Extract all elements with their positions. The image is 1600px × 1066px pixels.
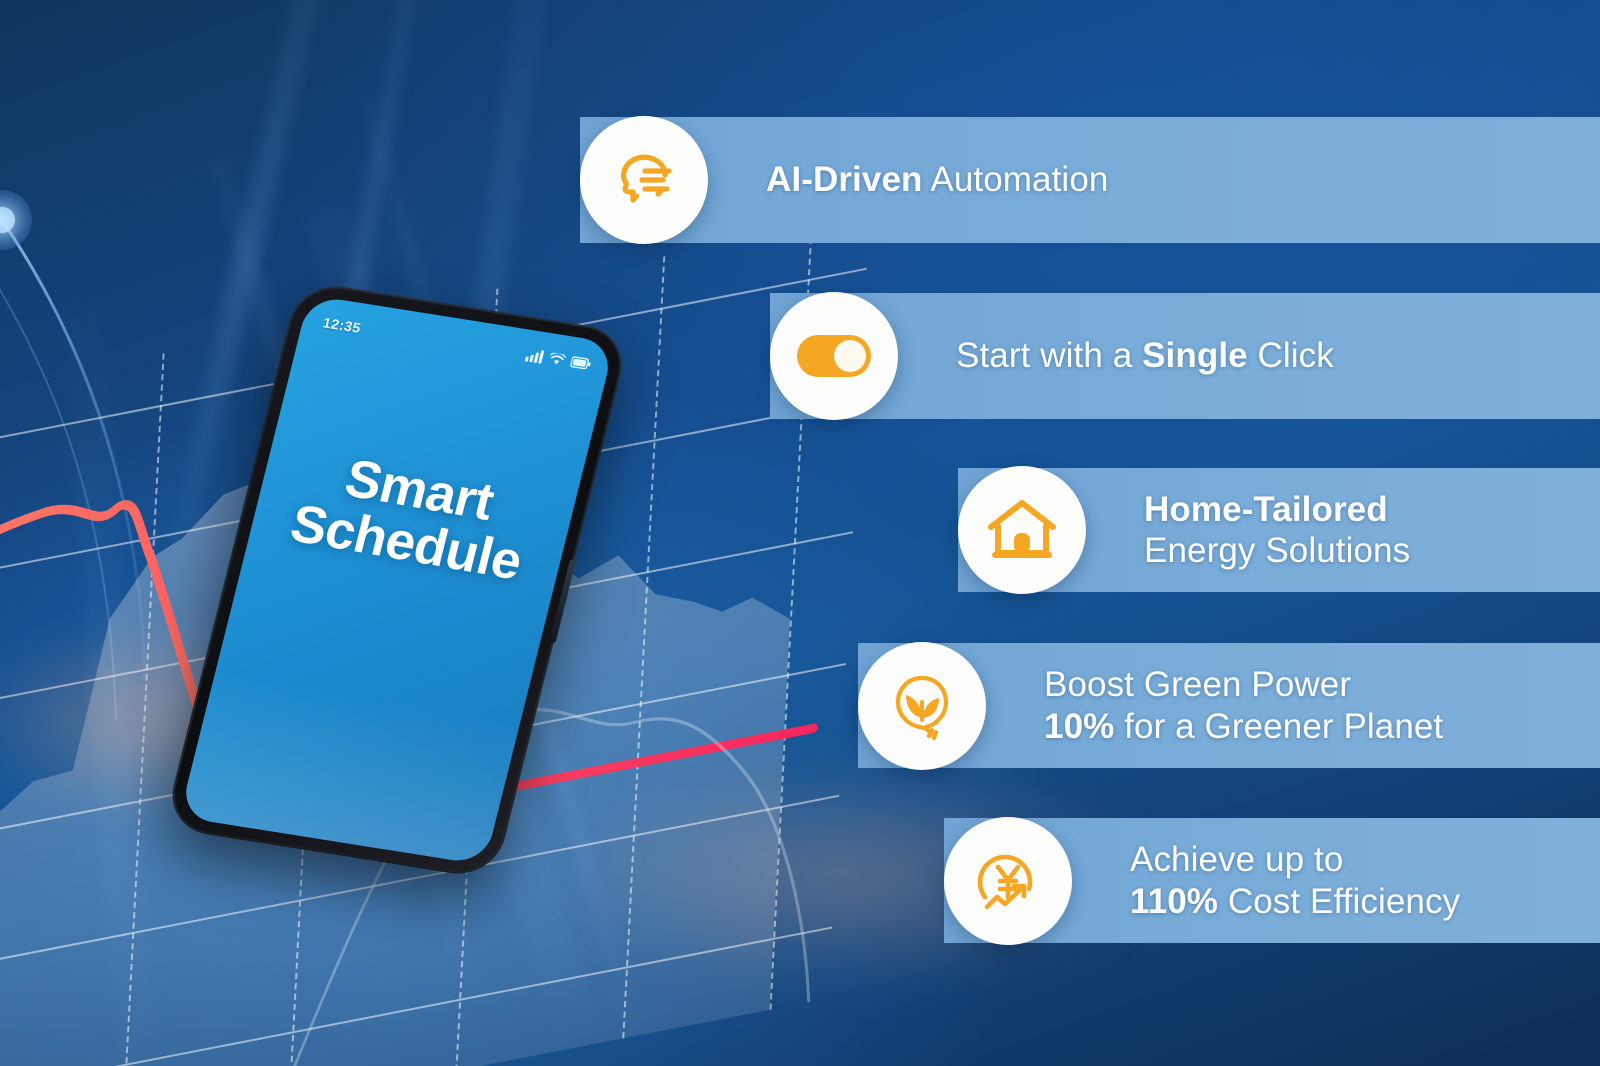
feature-label-bold: AI-Driven xyxy=(766,160,923,199)
infographic-canvas: 12:35 xyxy=(0,0,1600,1066)
feature-label-normal: Automation xyxy=(923,160,1109,199)
yen-growth-icon xyxy=(944,817,1072,945)
feature-label-bold: Home-Tailored xyxy=(1144,490,1388,529)
eco-plug-leaf-icon xyxy=(858,642,986,770)
feature-label-normal: Click xyxy=(1248,336,1334,375)
feature-row-single-click[interactable]: Start with a Single Click xyxy=(770,293,1600,419)
feature-label-ai-driven-automation: AI-Driven Automation xyxy=(766,159,1108,200)
feature-label-boost-green-power: Boost Green Power 10% for a Greener Plan… xyxy=(1044,664,1443,747)
feature-list: AI-Driven Automation Start with a Single… xyxy=(0,0,1600,1066)
feature-label-bold: 110% xyxy=(1130,882,1218,921)
feature-row-cost-efficiency[interactable]: Achieve up to 110% Cost Efficiency xyxy=(944,818,1600,943)
feature-label-normal: Achieve up to xyxy=(1130,840,1343,879)
home-icon xyxy=(958,466,1086,594)
feature-label-normal: Boost Green Power xyxy=(1044,665,1351,704)
feature-label-bold: Single xyxy=(1142,336,1248,375)
feature-label-normal-pre: Start with a xyxy=(956,336,1142,375)
feature-label-cost-efficiency: Achieve up to 110% Cost Efficiency xyxy=(1130,839,1460,922)
feature-row-ai-driven-automation[interactable]: AI-Driven Automation xyxy=(580,117,1600,243)
feature-label-normal: for a Greener Planet xyxy=(1114,707,1443,746)
feature-label-home-tailored-energy: Home-Tailored Energy Solutions xyxy=(1144,489,1410,572)
ai-head-icon xyxy=(580,116,708,244)
toggle-switch-on-icon[interactable] xyxy=(770,292,898,420)
feature-label-normal: Cost Efficiency xyxy=(1218,882,1460,921)
feature-label-bold: 10% xyxy=(1044,707,1114,746)
feature-row-boost-green-power[interactable]: Boost Green Power 10% for a Greener Plan… xyxy=(858,643,1600,768)
feature-row-home-tailored-energy[interactable]: Home-Tailored Energy Solutions xyxy=(958,468,1600,592)
feature-label-single-click: Start with a Single Click xyxy=(956,335,1334,376)
feature-label-normal: Energy Solutions xyxy=(1144,531,1410,570)
